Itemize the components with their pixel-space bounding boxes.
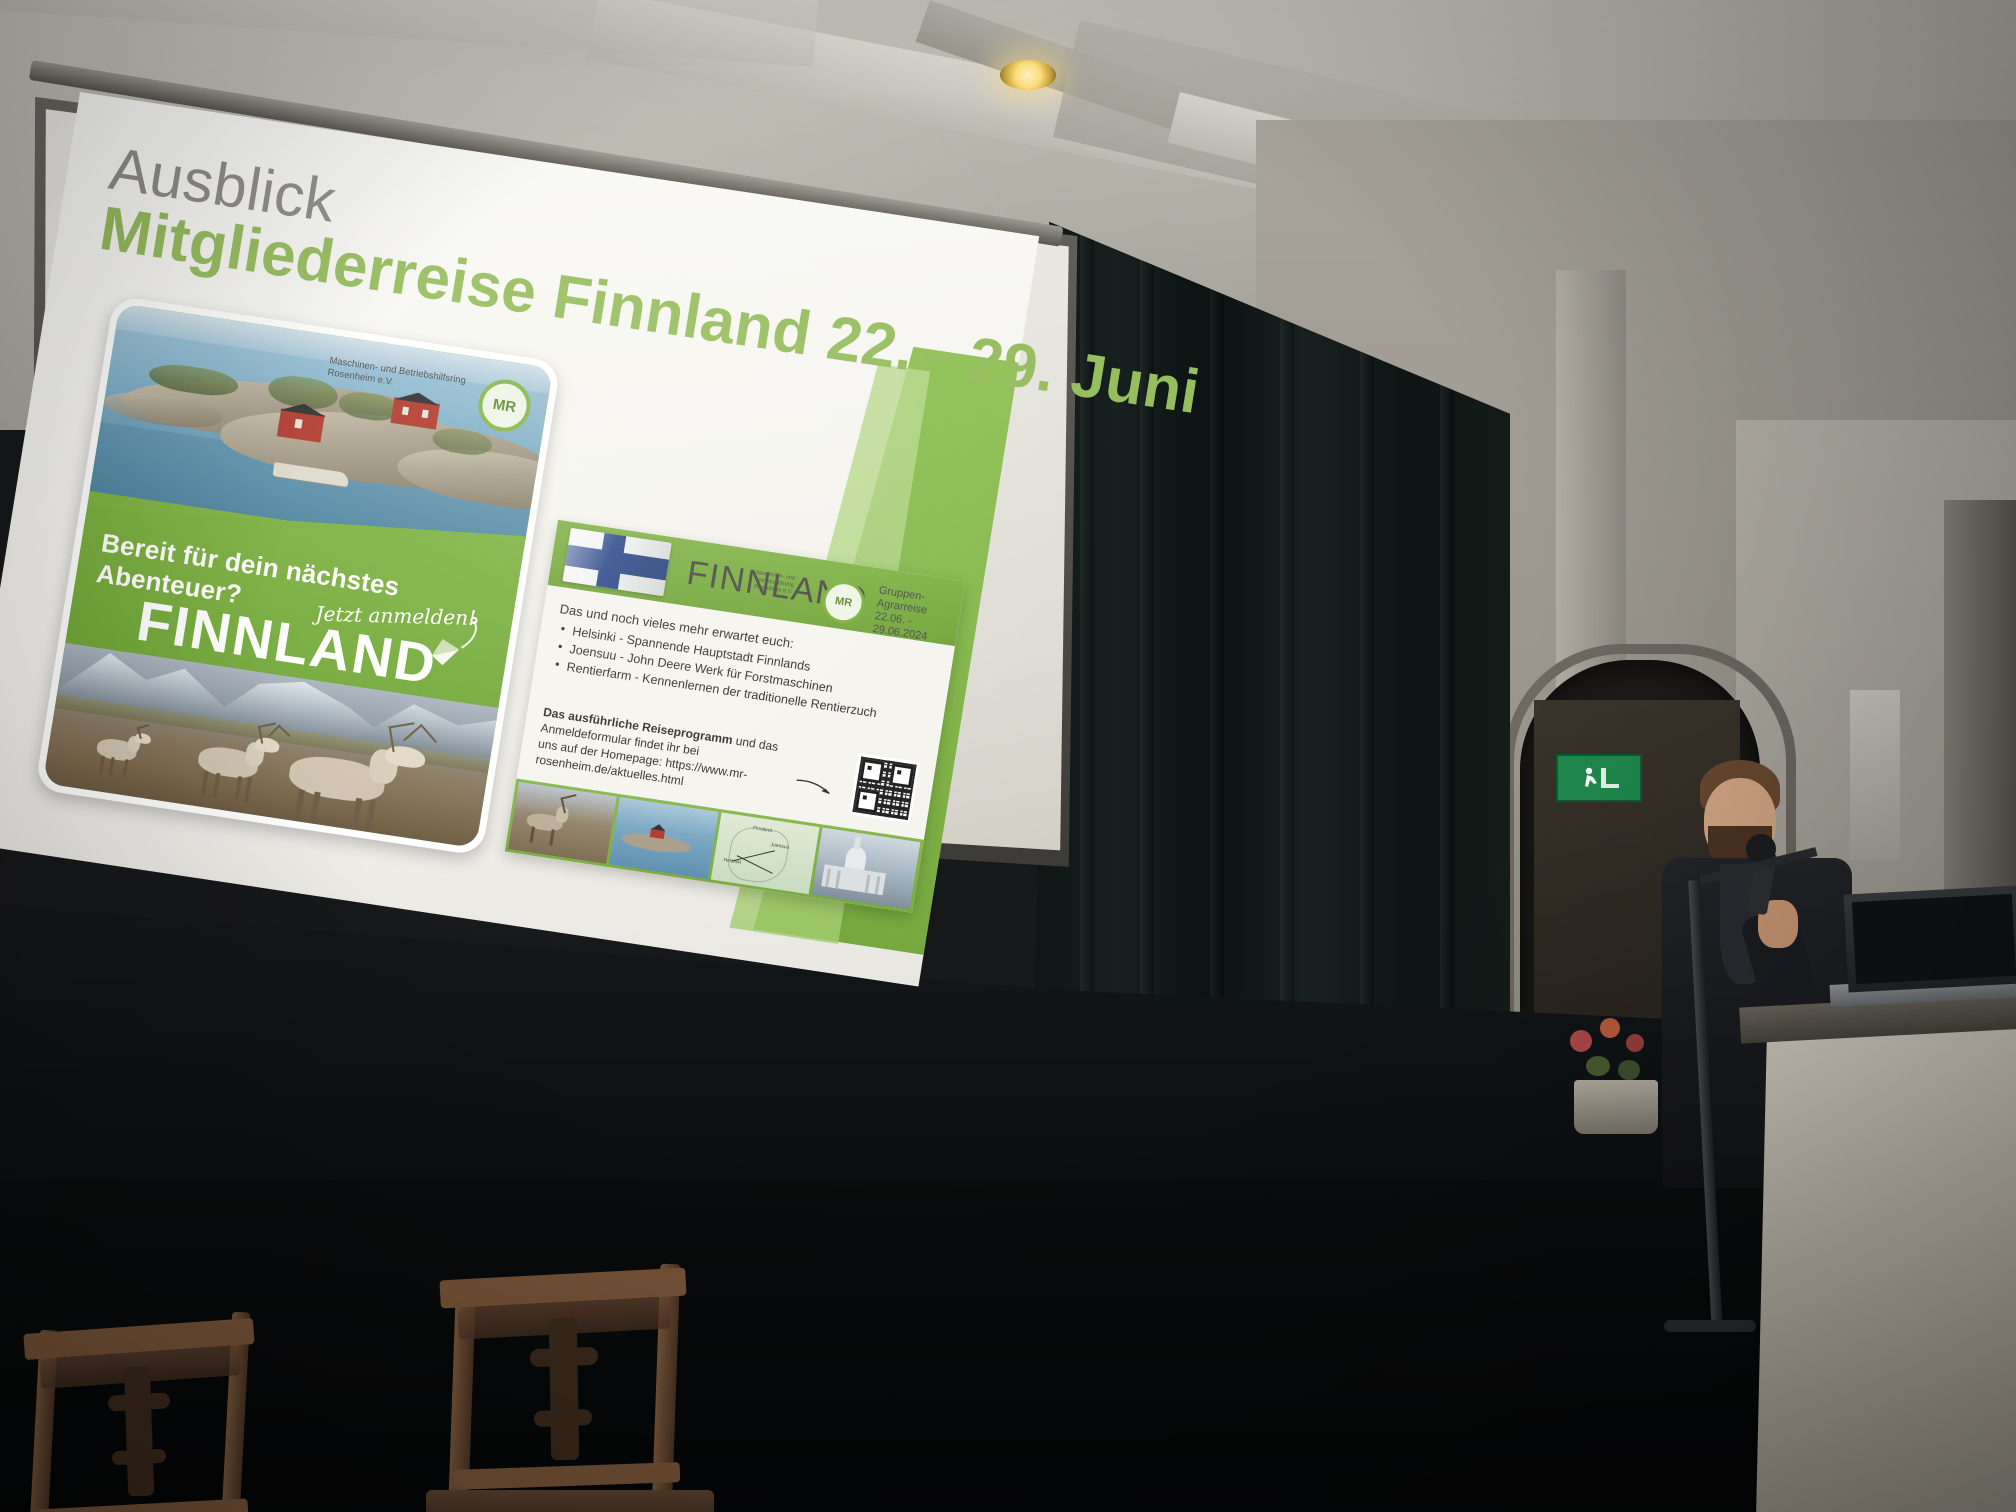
presentation-slide: Ausblick Mitgliederreise Finnland 22. - … [0,92,1039,987]
qr-code [849,753,920,823]
flower-arrangement [1560,1010,1690,1130]
screenshot-root: Ausblick Mitgliederreise Finnland 22. - … [0,0,2016,1512]
finland-flag-icon [562,528,671,596]
presenter-laptop-screen [1852,894,2016,984]
helsinki-cathedral-thumbnail [811,827,920,909]
route-map-thumbnail: Finnland Joensuu Helsinki [710,812,819,894]
reindeer-mid [189,726,289,808]
mic-stand-base [1664,1320,1756,1332]
meeting-room: Ausblick Mitgliederreise Finnland 22. - … [0,0,2016,1512]
trip-flyer: FINNLAND Gruppen-Agrarreise 22.06. - 29.… [505,520,966,913]
reindeer-thumbnail [508,782,617,864]
running-man-icon [1567,763,1631,793]
projection-screen: Ausblick Mitgliederreise Finnland 22. - … [18,36,1088,906]
island-thumbnail [609,797,718,879]
trip-poster: Maschinen- und Betriebshilfsring Rosenhe… [35,295,562,856]
reindeer-small [86,724,154,784]
chair-right [400,1240,720,1512]
lectern [1756,1018,2016,1512]
reindeer-large [276,725,439,838]
poster-inner: Maschinen- und Betriebshilfsring Rosenhe… [43,303,553,848]
exit-sign [1556,754,1642,802]
chair-left [0,1290,300,1512]
